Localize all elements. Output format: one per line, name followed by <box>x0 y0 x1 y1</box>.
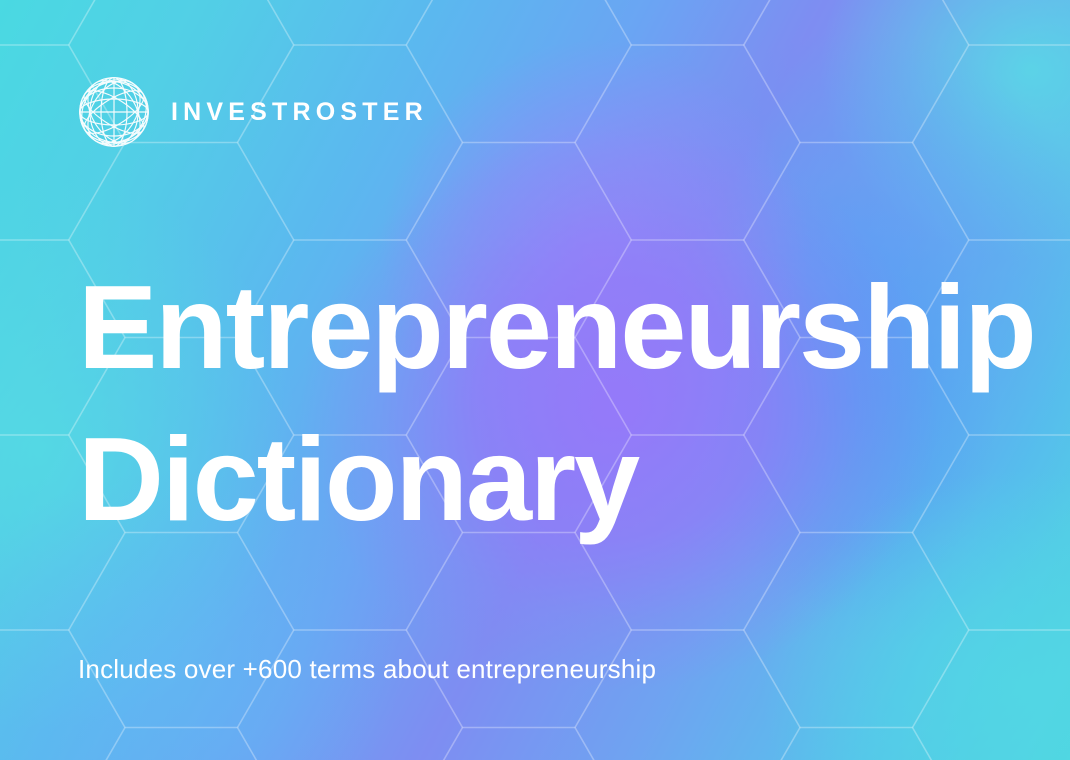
brand-logo: INVESTROSTER <box>78 76 428 148</box>
background-blob-cyan-top-right <box>820 0 1070 260</box>
title-line-1: Entrepreneurship <box>78 252 1038 404</box>
cover-subtitle: Includes over +600 terms about entrepren… <box>78 654 656 685</box>
brand-name-text: INVESTROSTER <box>171 100 428 125</box>
cover-canvas: INVESTROSTER Entrepreneurship Dictionary… <box>0 0 1070 760</box>
title-line-2: Dictionary <box>78 404 1038 556</box>
cover-title: Entrepreneurship Dictionary <box>78 252 1038 557</box>
globe-wireframe-icon <box>78 76 150 148</box>
